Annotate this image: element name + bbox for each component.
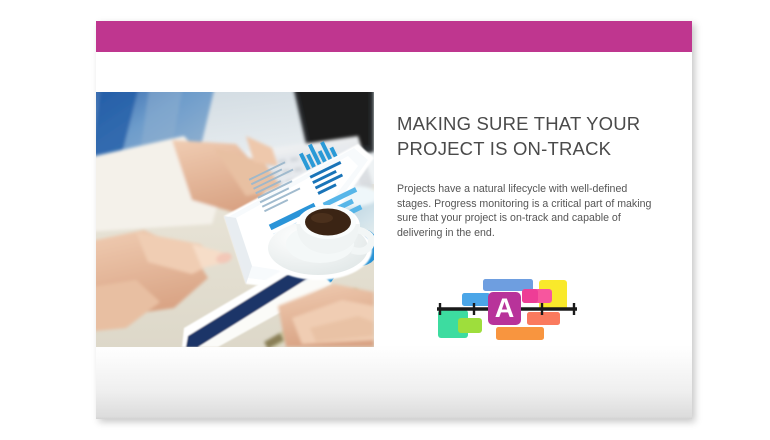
gantt-bar-blue-short [462,293,490,306]
slide-text-column: MAKING SURE THAT YOUR PROJECT IS ON-TRAC… [397,111,659,240]
presentation-slide: MAKING SURE THAT YOUR PROJECT IS ON-TRAC… [96,21,692,419]
page-title-line-1: MAKING SURE THAT YOUR [397,113,640,134]
slide-body-text: Projects have a natural lifecycle with w… [397,182,659,240]
svg-text:A: A [495,293,515,323]
business-meeting-tablet-photo [96,92,374,347]
slide-footer-band [96,345,692,419]
gantt-bar-lime [458,318,482,333]
project-timeline-gantt-icon: A [434,267,580,349]
gantt-badge-a: A [488,292,521,325]
gantt-bar-magenta [522,289,538,303]
page-title-line-2: PROJECT IS ON-TRACK [397,138,611,159]
gantt-bar-salmon [527,312,560,325]
slide-accent-bar [96,21,692,52]
gantt-bar-orange [496,327,544,340]
page-title: MAKING SURE THAT YOUR PROJECT IS ON-TRAC… [397,111,659,161]
